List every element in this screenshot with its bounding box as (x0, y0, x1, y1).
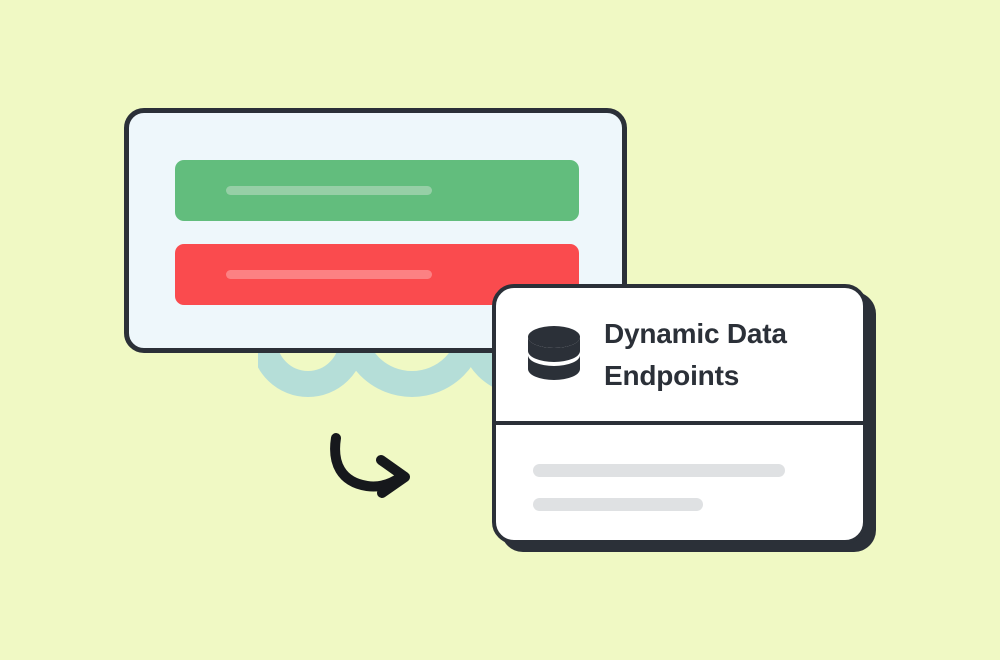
card-body (496, 425, 863, 540)
status-row-success[interactable] (175, 160, 579, 221)
curved-arrow-icon (325, 430, 417, 506)
card-surface: Dynamic Data Endpoints (492, 284, 867, 544)
status-row-error-placeholder-line (226, 270, 432, 279)
card-header: Dynamic Data Endpoints (496, 288, 863, 425)
feature-card[interactable]: Dynamic Data Endpoints (492, 284, 876, 552)
database-icon (526, 324, 582, 386)
status-row-success-placeholder-line (226, 186, 432, 195)
illustration-canvas: Dynamic Data Endpoints (0, 0, 1000, 660)
placeholder-line-short (533, 498, 703, 511)
placeholder-line-long (533, 464, 785, 477)
card-title: Dynamic Data Endpoints (604, 313, 834, 396)
